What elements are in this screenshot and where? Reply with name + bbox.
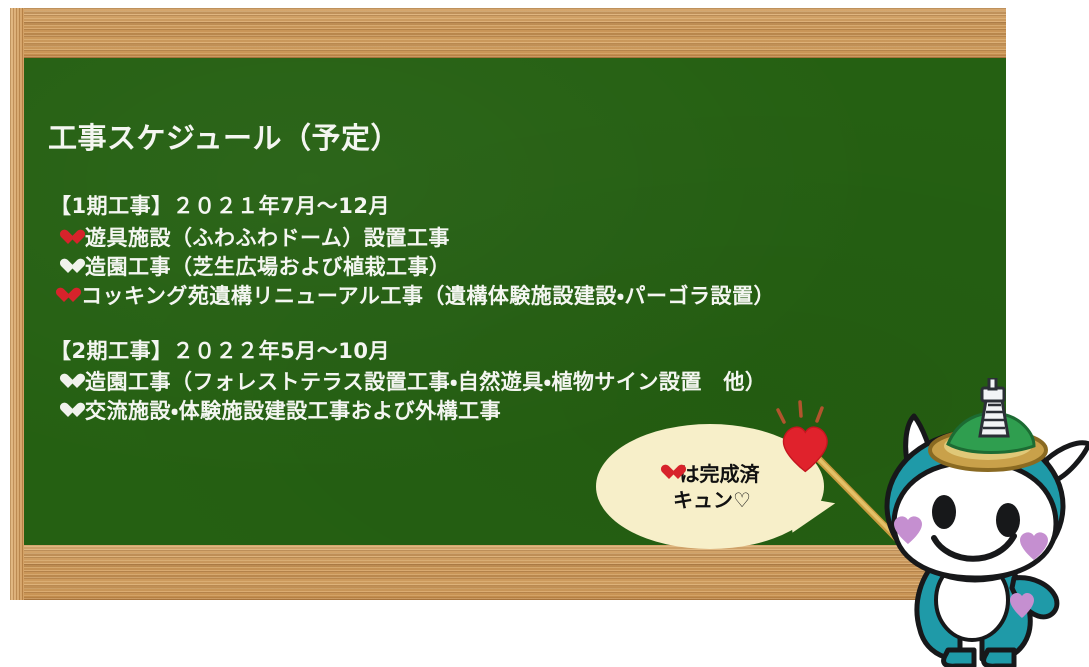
task-label: 造園工事（フォレストテラス設置工事・自然遊具・植物サイン設置 他） <box>85 370 766 395</box>
task-label: 遊具施設（ふわふわドーム）設置工事 <box>85 226 450 251</box>
task-label: 造園工事（芝生広場および植栽工事） <box>85 255 451 280</box>
red-heart-icon <box>60 230 77 246</box>
task-label: 交流施設・体験施設建設工事および外構工事 <box>85 399 501 424</box>
white-heart-icon <box>60 259 77 275</box>
task-label: コッキング苑遺構リニューアル工事（遺構体験施設建設・パーゴラ設置） <box>81 284 775 309</box>
page-margin-top <box>0 0 1089 8</box>
bubble-line-1: は完成済 <box>661 461 760 487</box>
task-item: 造園工事（フォレストテラス設置工事・自然遊具・植物サイン設置 他） <box>60 370 766 395</box>
red-heart-icon <box>661 465 678 481</box>
phase-1-heading: 【1期工事】２０２１年7月〜12月 <box>50 194 390 219</box>
bubble-line-1-text: は完成済 <box>680 461 760 487</box>
page-title: 工事スケジュール（予定） <box>48 121 400 155</box>
red-heart-icon <box>56 288 73 304</box>
task-item: コッキング苑遺構リニューアル工事（遺構体験施設建設・パーゴラ設置） <box>56 284 775 309</box>
board-frame-top <box>10 8 1006 58</box>
blackboard-illustration: 工事スケジュール（予定） 【1期工事】２０２１年7月〜12月 遊具施設（ふわふわ… <box>0 0 1089 667</box>
mascot-character <box>862 378 1089 667</box>
phase-2-heading: 【2期工事】２０２２年5月〜10月 <box>50 339 390 364</box>
white-heart-icon <box>60 403 77 419</box>
task-item: 交流施設・体験施設建設工事および外構工事 <box>60 399 501 424</box>
white-heart-icon <box>60 374 77 390</box>
page-margin-left <box>0 0 10 667</box>
bubble-line-2: キュン♡ <box>669 487 751 513</box>
task-item: 造園工事（芝生広場および植栽工事） <box>60 255 451 280</box>
task-item: 遊具施設（ふわふわドーム）設置工事 <box>60 226 450 251</box>
